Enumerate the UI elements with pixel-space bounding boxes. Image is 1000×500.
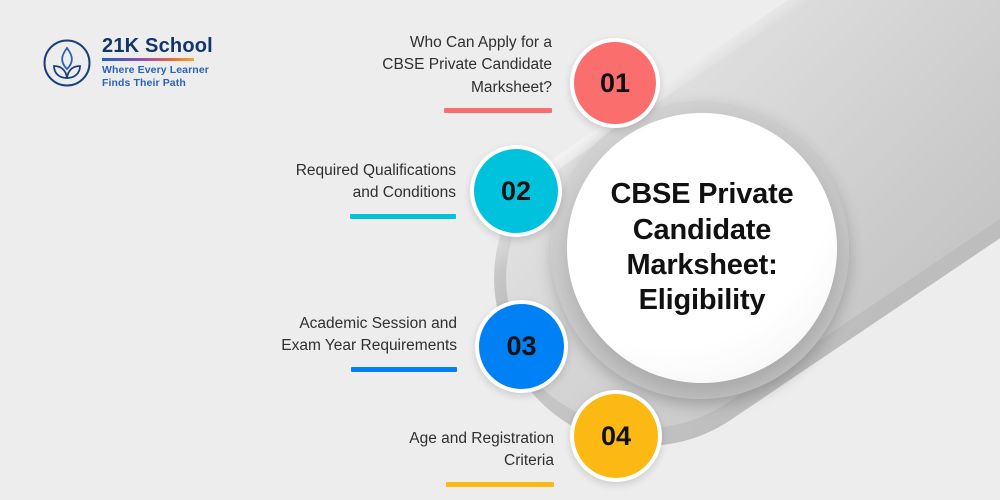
step-label-02: Required Qualifications and Conditions [248,160,456,219]
step-01-line2: CBSE Private Candidate [330,54,552,76]
infographic-canvas: 21K School Where Every Learner Finds The… [0,0,1000,500]
step-01-underline [444,108,552,113]
center-circle: CBSE Private Candidate Marksheet: Eligib… [567,113,837,383]
lotus-circle-icon [42,38,92,88]
brand-tagline: Where Every Learner Finds Their Path [102,64,213,90]
brand-name: 21K School [102,36,213,56]
step-03-line1: Academic Session and [240,313,457,335]
step-04-line1: Age and Registration [330,428,554,450]
step-label-03-text: Academic Session and Exam Year Requireme… [240,313,457,358]
step-bubble-03[interactable]: 03 [475,300,568,393]
brand-logo[interactable]: 21K School Where Every Learner Finds The… [42,36,213,90]
step-bubble-01[interactable]: 01 [570,38,660,128]
brand-gradient-rule [102,58,194,61]
step-03-underline [351,367,457,372]
step-label-04: Age and Registration Criteria [330,428,554,487]
step-04-underline [446,482,554,487]
step-02-underline [350,214,456,219]
step-01-line3: Marksheet? [330,77,552,99]
step-label-03: Academic Session and Exam Year Requireme… [240,313,457,372]
brand-tagline-line1: Where Every Learner [102,64,213,77]
step-02-line2: and Conditions [248,182,456,204]
step-label-01: Who Can Apply for a CBSE Private Candida… [330,32,552,113]
step-02-line1: Required Qualifications [248,160,456,182]
brand-tagline-line2: Finds Their Path [102,77,213,90]
step-bubble-04[interactable]: 04 [570,390,662,482]
step-label-02-text: Required Qualifications and Conditions [248,160,456,205]
step-label-01-text: Who Can Apply for a CBSE Private Candida… [330,32,552,99]
step-bubble-02[interactable]: 02 [470,145,562,237]
page-title: CBSE Private Candidate Marksheet: Eligib… [585,177,820,319]
step-03-line2: Exam Year Requirements [240,335,457,357]
step-label-04-text: Age and Registration Criteria [330,428,554,473]
step-04-line2: Criteria [330,450,554,472]
step-01-line1: Who Can Apply for a [330,32,552,54]
